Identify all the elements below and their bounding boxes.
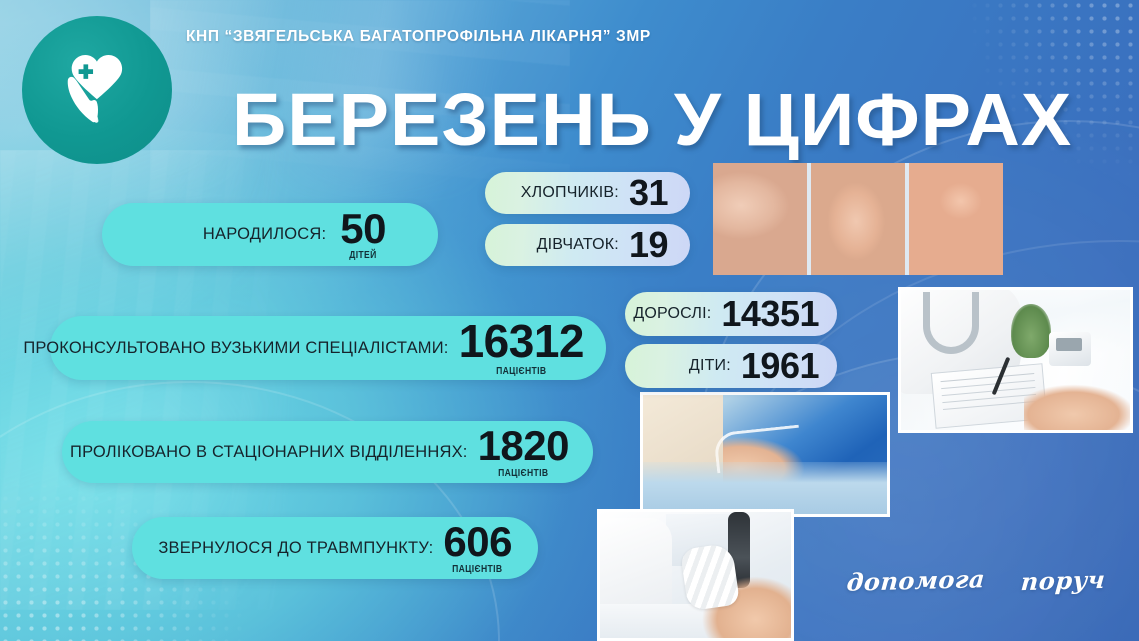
patient-hands [1024,382,1133,433]
stat-label-born: НАРОДИЛОСЯ: [203,225,326,244]
stat-value-group-born: 50 ДІТЕЙ [340,208,386,261]
baby-photo-2 [811,163,905,275]
baby-photo-3 [909,163,1003,275]
slogan-word-1: допомога [845,564,986,597]
stat-unit-inpatient: ПАЦІЄНТІВ [498,468,548,479]
stat-value-inpatient: 1820 [478,425,569,466]
stat-value-boys: 31 [629,175,668,210]
hospital-logo [22,16,172,164]
page-title: БЕРЕЗЕНЬ У ЦИФРАХ [232,83,1072,157]
stat-label-consulted: ПРОКОНСУЛЬТОВАНО ВУЗЬКИМИ СПЕЦІАЛІСТАМИ: [23,339,448,358]
stat-value-group-children: 1961 [741,348,819,383]
blood-pressure-monitor [1049,332,1091,366]
stat-value-born: 50 [340,208,386,249]
plant [1011,304,1051,358]
stat-pill-inpatient: ПРОЛІКОВАНО В СТАЦІОНАРНИХ ВІДДІЛЕННЯХ: … [62,421,593,483]
stat-label-children: ДІТИ: [689,357,731,375]
stat-value-group-adults: 14351 [721,296,819,331]
stat-value-adults: 14351 [721,296,819,331]
slogan-word-2: поруч [1020,565,1107,596]
stat-value-girls: 19 [629,227,668,262]
stat-value-group-trauma: 606 ПАЦІЄНТІВ [443,521,512,574]
stat-unit-trauma: ПАЦІЄНТІВ [453,564,503,575]
slogan: допомога поруч [847,566,1105,595]
newborn-babies-triptych-photo [713,163,1003,275]
stat-value-group-boys: 31 [629,175,668,210]
stat-value-consulted: 16312 [459,319,584,364]
stat-pill-adults: ДОРОСЛІ: 14351 [625,292,837,336]
stat-label-inpatient: ПРОЛІКОВАНО В СТАЦІОНАРНИХ ВІДДІЛЕННЯХ: [70,443,468,462]
infographic-poster: КНП “ЗВЯГЕЛЬСЬКА БАГАТОПРОФІЛЬНА ЛІКАРНЯ… [0,0,1139,641]
baby-photo-1 [713,163,807,275]
stat-value-group-inpatient: 1820 ПАЦІЄНТІВ [478,425,569,478]
decorative-swoosh-4 [0,381,500,641]
patient-in-hospital-bed-with-iv-photo [640,392,890,517]
organization-name: КНП “ЗВЯГЕЛЬСЬКА БАГАТОПРОФІЛЬНА ЛІКАРНЯ… [186,28,651,46]
stat-pill-girls: ДІВЧАТОК: 19 [485,224,690,266]
stat-pill-children: ДІТИ: 1961 [625,344,837,388]
stat-pill-consulted: ПРОКОНСУЛЬТОВАНО ВУЗЬКИМИ СПЕЦІАЛІСТАМИ:… [50,316,606,380]
stat-unit-consulted: ПАЦІЄНТІВ [496,366,546,377]
stat-value-group-consulted: 16312 ПАЦІЄНТІВ [459,319,584,376]
stat-pill-born: НАРОДИЛОСЯ: 50 ДІТЕЙ [102,203,438,266]
stat-label-girls: ДІВЧАТОК: [537,236,619,254]
doctor-consultation-photo [898,287,1133,433]
stat-value-children: 1961 [741,348,819,383]
stat-label-trauma: ЗВЕРНУЛОСЯ ДО ТРАВМПУНКТУ: [158,539,433,558]
stat-value-group-girls: 19 [629,227,668,262]
bed-sheet [643,462,887,514]
hand-holding-heart-with-cross-icon [51,44,143,136]
stethoscope [923,292,979,354]
stat-value-trauma: 606 [443,521,512,562]
doctor-bandaging-hand-photo [597,509,794,641]
stat-unit-born: ДІТЕЙ [349,250,376,261]
stat-label-boys: ХЛОПЧИКІВ: [521,184,619,202]
stat-label-adults: ДОРОСЛІ: [633,305,711,323]
stat-pill-trauma: ЗВЕРНУЛОСЯ ДО ТРАВМПУНКТУ: 606 ПАЦІЄНТІВ [132,517,538,579]
stat-pill-boys: ХЛОПЧИКІВ: 31 [485,172,690,214]
